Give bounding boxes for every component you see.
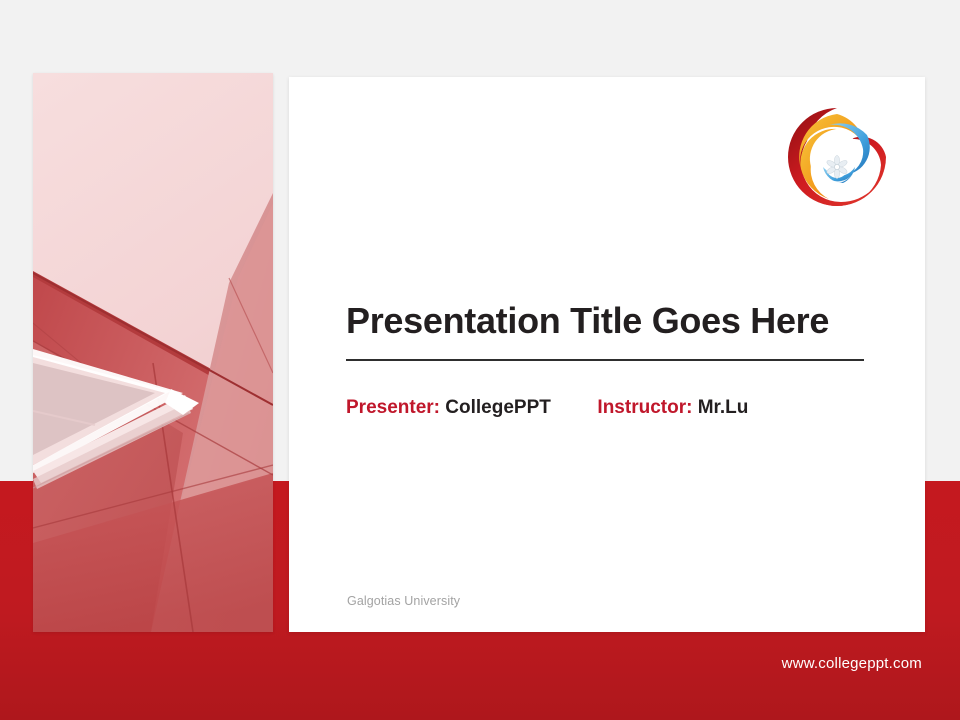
slide-canvas: www.collegeppt.com (0, 0, 960, 720)
organization-footer: Galgotias University (347, 594, 460, 608)
website-url: www.collegeppt.com (782, 655, 922, 672)
instructor-label: Instructor: (597, 397, 692, 418)
credits-line: Presenter: CollegePPT Instructor: Mr.Lu (346, 397, 748, 419)
instructor-name: Mr.Lu (698, 397, 749, 418)
presenter-name: CollegePPT (445, 397, 551, 418)
slide-content-card: Presentation Title Goes Here Presenter: … (289, 77, 925, 632)
galgotias-swirl-logo (785, 105, 889, 209)
architecture-pink-ceiling-photo (33, 73, 273, 632)
title-underline-rule (346, 359, 864, 361)
page-title: Presentation Title Goes Here (346, 301, 866, 341)
presenter-label: Presenter: (346, 397, 440, 418)
title-block: Presentation Title Goes Here (346, 301, 866, 361)
cover-photo-panel (33, 73, 273, 632)
